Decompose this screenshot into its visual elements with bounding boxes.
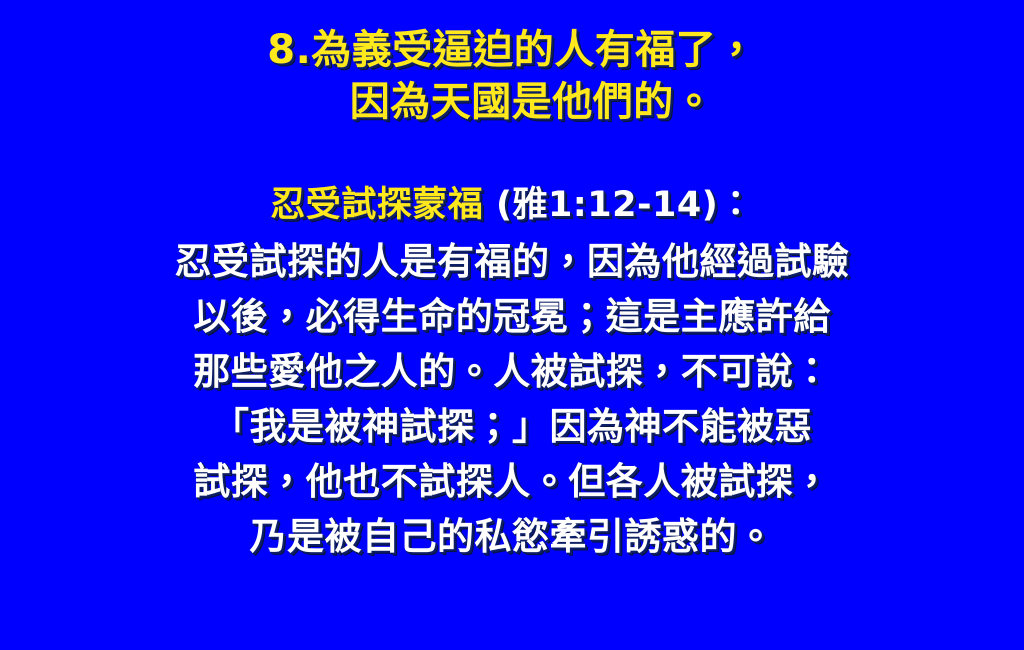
scripture-heading-topic: 忍受試探蒙福	[270, 185, 483, 225]
scripture-heading: 忍受試探蒙福 (雅1:12-14)：	[0, 178, 1024, 232]
scripture-line: 「我是被神試探；」因為神不能被惡	[0, 399, 1024, 454]
scripture-line: 乃是被自己的私慾牽引誘惑的。	[0, 509, 1024, 564]
scripture-block: 忍受試探蒙福 (雅1:12-14)： 忍受試探的人是有福的，因為他經過試驗 以後…	[0, 178, 1024, 564]
title-line-2: 因為天國是他們的。	[0, 76, 1024, 128]
scripture-line: 試探，他也不試探人。但各人被試探，	[0, 454, 1024, 509]
presentation-slide: 8.為義受逼迫的人有福了， 因為天國是他們的。 忍受試探蒙福 (雅1:12-14…	[0, 0, 1024, 650]
scripture-line: 忍受試探的人是有福的，因為他經過試驗	[0, 234, 1024, 289]
title-line-1: 8.為義受逼迫的人有福了，	[0, 24, 1024, 76]
scripture-line: 那些愛他之人的。人被試探，不可說：	[0, 344, 1024, 399]
slide-title-block: 8.為義受逼迫的人有福了， 因為天國是他們的。	[0, 24, 1024, 128]
scripture-body: 忍受試探的人是有福的，因為他經過試驗 以後，必得生命的冠冕；這是主應許給 那些愛…	[0, 234, 1024, 564]
scripture-reference: (雅1:12-14)：	[483, 185, 753, 225]
scripture-line: 以後，必得生命的冠冕；這是主應許給	[0, 289, 1024, 344]
